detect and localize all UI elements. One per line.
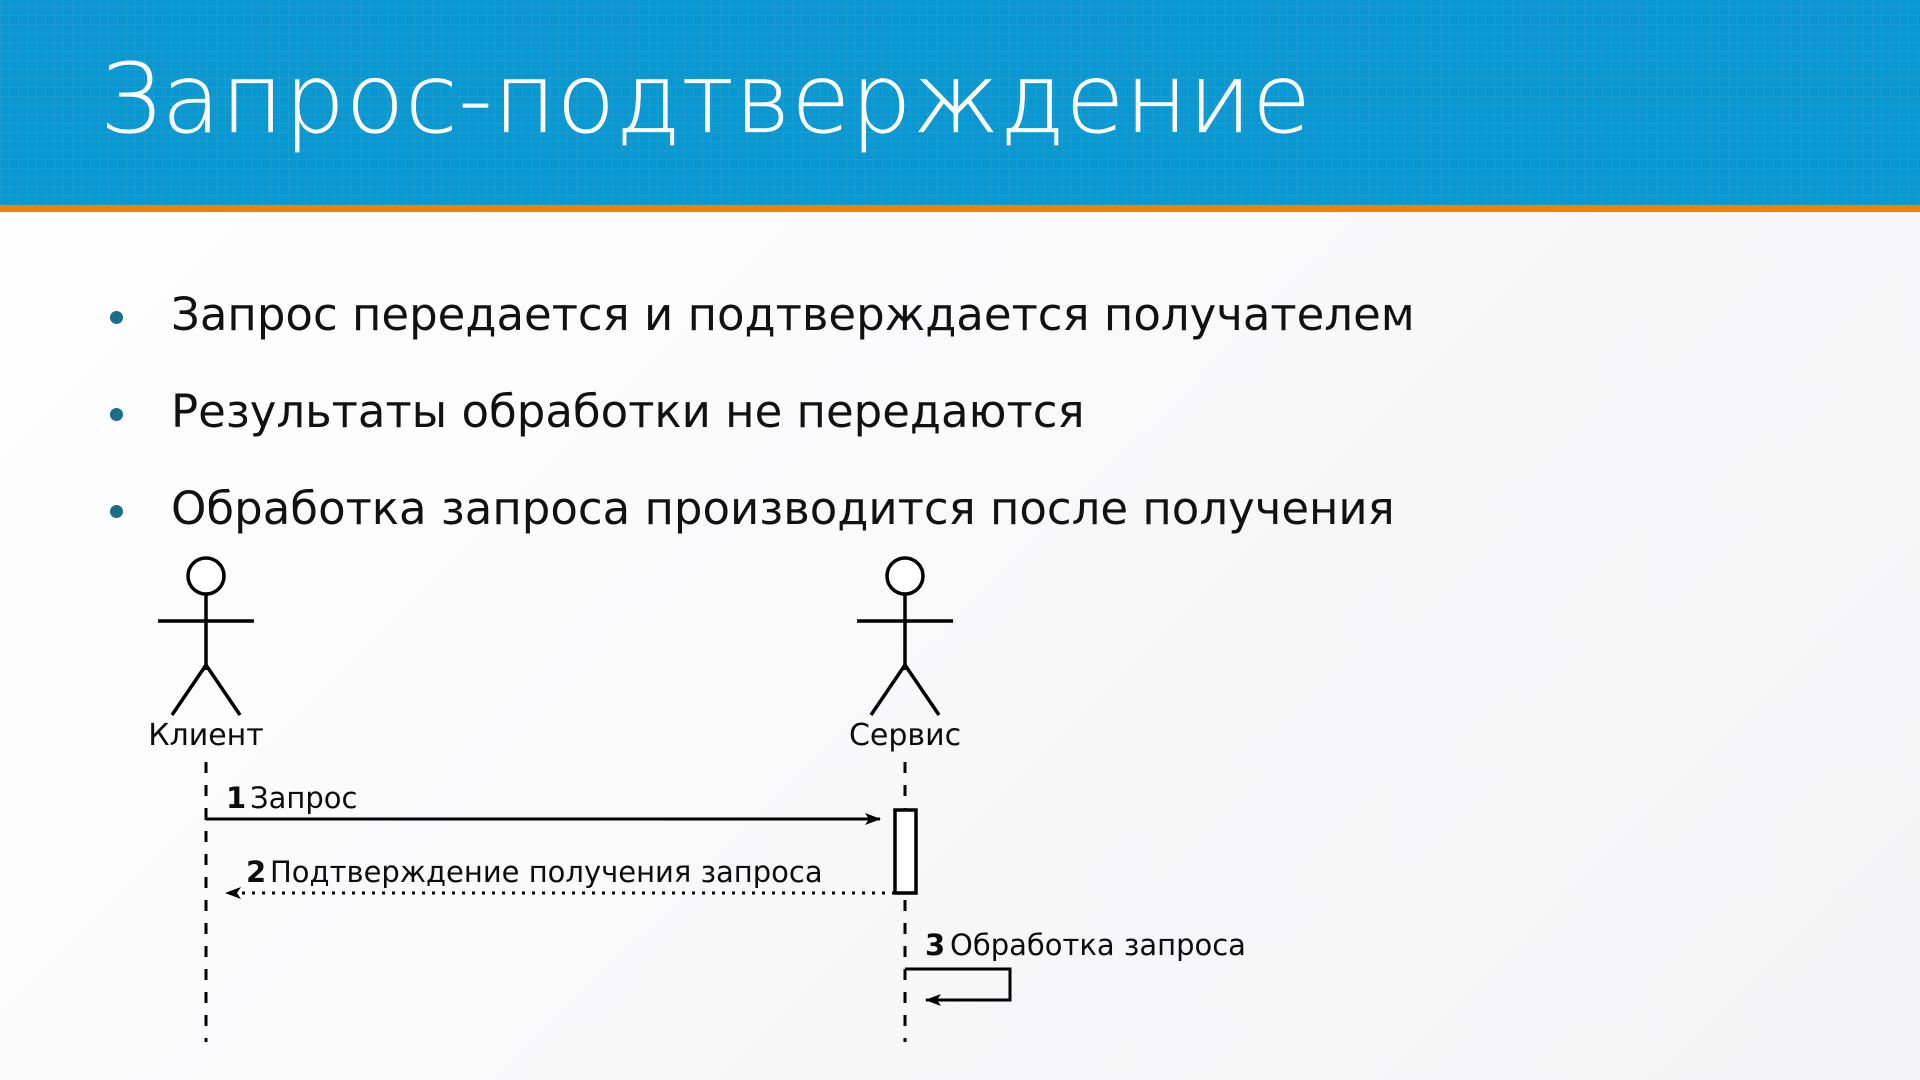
message-label: Подтверждение получения запроса bbox=[270, 855, 823, 889]
bullet-dot-icon bbox=[110, 311, 123, 324]
message-number: 3 bbox=[925, 928, 945, 962]
header-accent-rule bbox=[0, 205, 1920, 212]
actor-label-service: Сервис bbox=[849, 718, 961, 753]
message-2: 2 Подтверждение получения запроса bbox=[226, 855, 895, 893]
bullet-text: Запрос передается и подтверждается получ… bbox=[171, 290, 1415, 340]
message-1: 1 Запрос bbox=[206, 781, 880, 820]
message-number: 2 bbox=[246, 855, 266, 889]
self-call-arrow bbox=[905, 969, 1010, 1000]
actor-label-client: Клиент bbox=[148, 718, 264, 753]
slide-header: Запрос-подтверждение bbox=[0, 0, 1920, 205]
list-item: Результаты обработки не передаются bbox=[110, 387, 1810, 437]
list-item: Запрос передается и подтверждается получ… bbox=[110, 290, 1810, 340]
actor-leg-left-icon bbox=[172, 665, 206, 715]
actor-leg-right-icon bbox=[206, 665, 240, 715]
bullet-text: Результаты обработки не передаются bbox=[171, 387, 1085, 437]
actor-client bbox=[158, 558, 254, 715]
bullet-text: Обработка запроса производится после пол… bbox=[171, 484, 1395, 534]
actor-leg-left-icon bbox=[871, 665, 905, 715]
list-item: Обработка запроса производится после пол… bbox=[110, 484, 1810, 534]
activation-box-service bbox=[895, 810, 916, 893]
bullet-dot-icon bbox=[110, 408, 123, 421]
bullet-dot-icon bbox=[110, 505, 123, 518]
message-label: Запрос bbox=[250, 781, 357, 815]
actor-head-icon bbox=[887, 558, 923, 594]
actor-service bbox=[857, 558, 953, 715]
message-3: 3 Обработка запроса bbox=[905, 928, 1246, 1000]
actor-head-icon bbox=[188, 558, 224, 594]
actor-leg-right-icon bbox=[905, 665, 939, 715]
message-label: Обработка запроса bbox=[950, 928, 1246, 962]
page-title: Запрос-подтверждение bbox=[100, 48, 1312, 152]
message-number: 1 bbox=[226, 781, 246, 815]
